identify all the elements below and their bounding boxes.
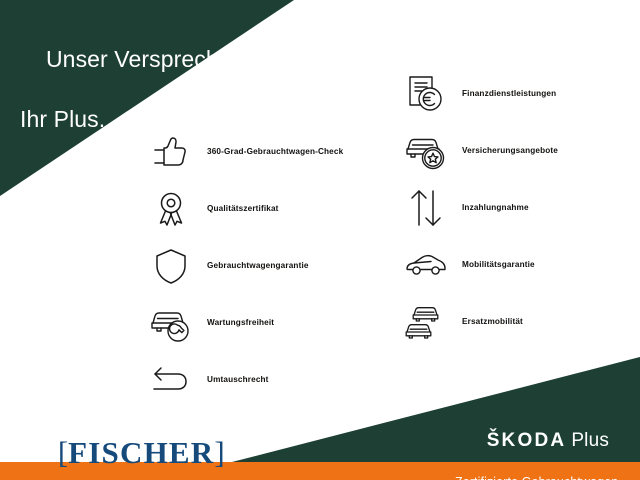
feature-label: Finanzdienstleistungen bbox=[452, 88, 556, 99]
thumbs-up-icon bbox=[145, 128, 197, 176]
document-euro-icon bbox=[400, 70, 452, 118]
car-wrench-icon bbox=[145, 299, 197, 347]
car-star-icon bbox=[400, 127, 452, 175]
skoda-plus-word: Plus bbox=[566, 430, 609, 451]
promo-banner: Unser Versprechen. Ihr Plus. 360-Grad-Ge… bbox=[0, 0, 640, 480]
feature-item-umtauschrecht: Umtauschrecht bbox=[145, 352, 380, 407]
feature-label: Inzahlungnahme bbox=[452, 202, 529, 213]
up-down-arrows-icon bbox=[400, 184, 452, 232]
feature-label: Umtauschrecht bbox=[197, 374, 269, 385]
two-cars-icon bbox=[400, 298, 452, 346]
feature-item-versicherungsangebote: Versicherungsangebote bbox=[400, 123, 640, 178]
skoda-brand-line: ŠKODAPlus bbox=[455, 408, 618, 474]
dealer-logo-name: FISCHER bbox=[68, 435, 214, 470]
dealer-logo-bracket-close: ] bbox=[214, 435, 224, 470]
shield-icon bbox=[145, 242, 197, 290]
dealer-logo-bracket-open: [ bbox=[58, 435, 68, 470]
feature-item-gebrauchtwagengarantie: Gebrauchtwagengarantie bbox=[145, 238, 380, 293]
dealer-logo: [FISCHER] bbox=[22, 402, 225, 480]
feature-label: Gebrauchtwagengarantie bbox=[197, 260, 309, 271]
feature-label: Wartungsfreiheit bbox=[197, 317, 274, 328]
feature-label: Mobilitätsgarantie bbox=[452, 259, 535, 270]
feature-item-wartungsfreiheit: Wartungsfreiheit bbox=[145, 295, 380, 350]
feature-label: Ersatzmobilität bbox=[452, 316, 523, 327]
feature-label: Versicherungsangebote bbox=[452, 145, 558, 156]
skoda-plus-logo: ŠKODAPlus Zertifizierte Gebrauchtwagen bbox=[455, 408, 618, 480]
feature-item-gebrauchtwagen-check: 360-Grad-Gebrauchtwagen-Check bbox=[145, 124, 380, 179]
feature-item-inzahlungnahme: Inzahlungnahme bbox=[400, 180, 640, 235]
car-side-icon bbox=[400, 241, 452, 289]
headline-line-1: Unser Versprechen. bbox=[46, 46, 251, 72]
feature-item-mobilitaetsgarantie: Mobilitätsgarantie bbox=[400, 237, 640, 292]
feature-label: Qualitätszertifikat bbox=[197, 203, 279, 214]
award-rosette-icon bbox=[145, 185, 197, 233]
feature-item-qualitaetszertifikat: Qualitätszertifikat bbox=[145, 181, 380, 236]
feature-list-right: Finanzdienstleistungen Versicherungsange… bbox=[400, 66, 640, 351]
return-arrow-icon bbox=[145, 356, 197, 404]
feature-list-left: 360-Grad-Gebrauchtwagen-Check Qualitätsz… bbox=[145, 124, 380, 409]
skoda-tagline: Zertifizierte Gebrauchtwagen bbox=[455, 474, 618, 480]
feature-item-finanzdienstleistungen: Finanzdienstleistungen bbox=[400, 66, 640, 121]
skoda-brand-name: ŠKODA bbox=[487, 430, 567, 451]
feature-label: 360-Grad-Gebrauchtwagen-Check bbox=[197, 146, 343, 157]
feature-item-ersatzmobilitaet: Ersatzmobilität bbox=[400, 294, 640, 349]
